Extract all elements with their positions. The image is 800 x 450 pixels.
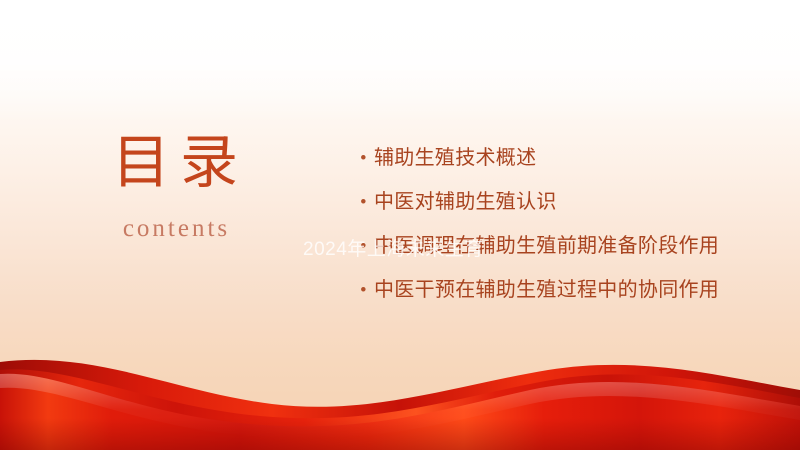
page-title: 目录 xyxy=(0,132,350,195)
bullet-icon: • xyxy=(360,228,367,265)
list-item-label: 中医调理在辅助生殖前期准备阶段作用 xyxy=(374,235,719,257)
list-item[interactable]: • 辅助生殖技术概述 xyxy=(358,140,728,177)
list-item[interactable]: • 中医对辅助生殖认识 xyxy=(358,184,728,221)
list-item[interactable]: • 中医调理在辅助生殖前期准备阶段作用 xyxy=(358,228,728,265)
bullet-icon: • xyxy=(360,140,367,177)
bullet-icon: • xyxy=(360,184,367,221)
list-item-label: 中医干预在辅助生殖过程中的协同作用 xyxy=(374,279,719,301)
top-glow-decoration xyxy=(0,0,800,120)
table-of-contents: • 辅助生殖技术概述 • 中医对辅助生殖认识 • 中医调理在辅助生殖前期准备阶段… xyxy=(358,140,728,316)
list-item-label: 中医对辅助生殖认识 xyxy=(374,191,557,213)
presentation-slide: 目录 contents • 辅助生殖技术概述 • 中医对辅助生殖认识 • 中医调… xyxy=(0,0,800,450)
ribbon-shadow xyxy=(0,418,800,450)
list-item-label: 辅助生殖技术概述 xyxy=(374,147,536,169)
section-title-block: 目录 contents xyxy=(0,132,350,243)
page-subtitle: contents xyxy=(0,215,350,243)
red-ribbon-decoration xyxy=(0,340,800,450)
list-item[interactable]: • 中医干预在辅助生殖过程中的协同作用 xyxy=(358,272,728,309)
bullet-icon: • xyxy=(360,272,367,309)
